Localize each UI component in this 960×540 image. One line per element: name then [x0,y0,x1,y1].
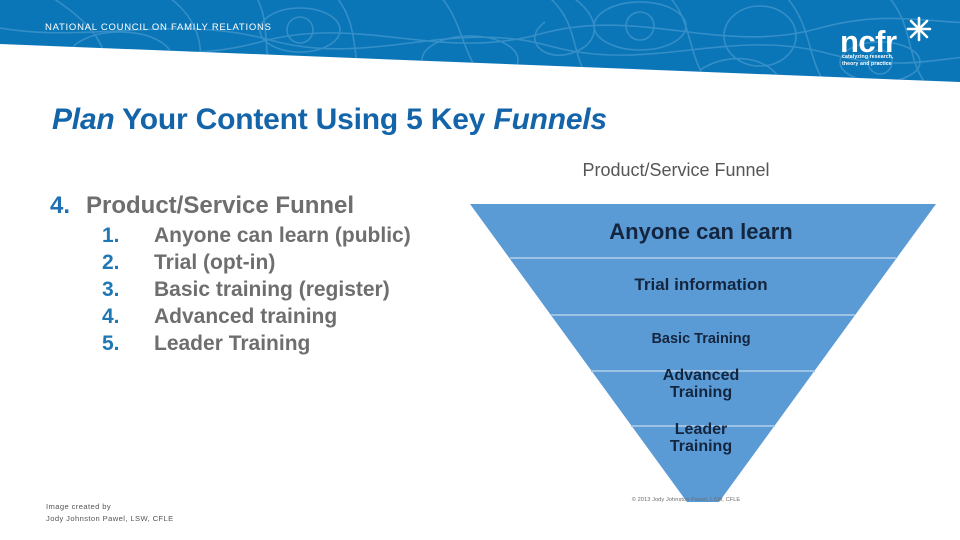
slide-canvas: NATIONAL COUNCIL ON FAMILY RELATIONS ncf… [0,0,960,540]
funnel-level-label: Basic Training [536,332,866,347]
sub-item-label: Basic training (register) [154,278,390,302]
title-part-funnels: Funnels [493,103,607,136]
organization-name: NATIONAL COUNCIL ON FAMILY RELATIONS [45,22,272,33]
outline-item-product-service-funnel: 4. Product/Service Funnel [50,192,520,220]
ncfr-logo: ncfr catalyzing research, theory and pra… [840,16,936,68]
funnel-level-label: Leader Training [576,422,826,456]
title-part-plan: Plan [52,103,115,136]
logo-wordmark: ncfr [840,26,897,57]
sub-item-number: 5. [50,332,154,356]
image-credit: Image created by Jody Johnston Pawel, LS… [46,501,174,525]
image-credit-line2: Jody Johnston Pawel, LSW, CFLE [46,513,174,525]
sub-item-number: 3. [50,278,154,302]
outline-item-label: Product/Service Funnel [86,192,354,220]
image-credit-line1: Image created by [46,501,174,513]
funnel-diagram: Product/Service Funnel Anyone can learn … [466,160,946,520]
logo-tagline-line2: theory and practice [842,61,894,68]
starburst-icon [902,14,936,44]
list-item: 4. Advanced training [50,305,520,329]
title-part-middle: Your Content Using 5 Key [115,103,494,136]
sub-item-label: Leader Training [154,332,310,356]
funnel-level-label: Anyone can learn [466,220,936,243]
funnel-copyright: © 2013 Jody Johnston Pawel, LSW, CFLE [526,497,846,503]
outline-sublist: 1. Anyone can learn (public) 2. Trial (o… [50,224,520,356]
slide-title: Plan Your Content Using 5 Key Funnels [52,103,607,137]
banner-background [0,0,960,90]
logo-tagline: catalyzing research, theory and practice [842,54,894,68]
list-item: 3. Basic training (register) [50,278,520,302]
outline-item-number: 4. [50,192,86,220]
sub-item-number: 1. [50,224,154,248]
funnel-shape [466,202,946,502]
sub-item-number: 2. [50,251,154,275]
logo-tagline-line1: catalyzing research, [842,54,894,61]
sub-item-label: Anyone can learn (public) [154,224,411,248]
list-item: 2. Trial (opt-in) [50,251,520,275]
sub-item-label: Advanced training [154,305,337,329]
header-banner: NATIONAL COUNCIL ON FAMILY RELATIONS ncf… [0,0,960,90]
outline-list: 4. Product/Service Funnel 1. Anyone can … [50,192,520,359]
list-item: 5. Leader Training [50,332,520,356]
funnel-level-label: Advanced Training [566,368,836,402]
funnel-level-label: Trial information [496,276,906,294]
sub-item-label: Trial (opt-in) [154,251,275,275]
sub-item-number: 4. [50,305,154,329]
funnel-title: Product/Service Funnel [466,160,886,181]
list-item: 1. Anyone can learn (public) [50,224,520,248]
